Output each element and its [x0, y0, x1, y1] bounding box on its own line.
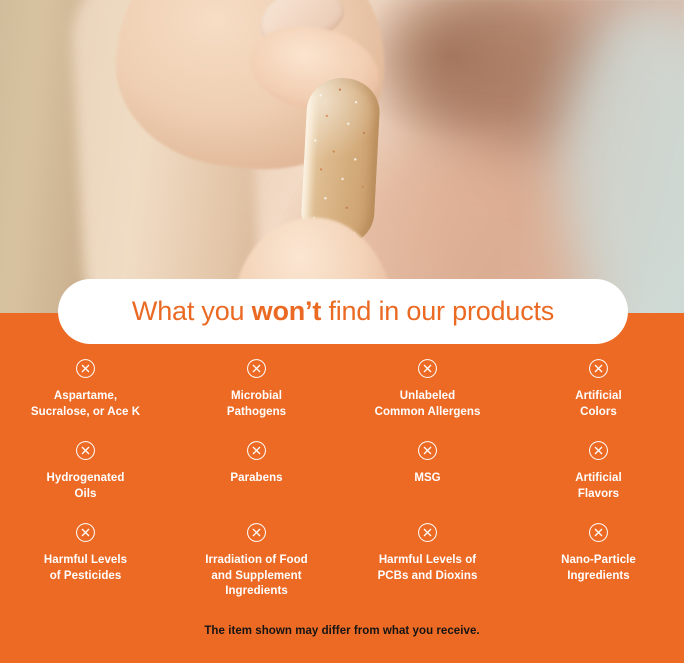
- exclusion-label: UnlabeledCommon Allergens: [375, 389, 481, 420]
- exclusion-label: MicrobialPathogens: [227, 389, 286, 420]
- exclusion-item: ArtificialFlavors: [513, 440, 684, 502]
- exclusions-grid: Aspartame,Sucralose, or Ace K MicrobialP…: [0, 358, 684, 600]
- exclusion-label: MSG: [414, 471, 440, 487]
- title-part-two: find in our products: [321, 296, 554, 326]
- exclusion-item: Harmful Levelsof Pesticides: [0, 522, 171, 600]
- x-circle-icon: [246, 522, 267, 543]
- hero-photo: [0, 0, 684, 314]
- exclusion-item: MSG: [342, 440, 513, 502]
- x-circle-icon: [588, 440, 609, 461]
- disclaimer-text: The item shown may differ from what you …: [0, 625, 684, 637]
- exclusion-label: Irradiation of Foodand SupplementIngredi…: [205, 553, 308, 600]
- page-title: What you won’t find in our products: [132, 296, 554, 327]
- x-circle-icon: [417, 522, 438, 543]
- x-circle-icon: [588, 358, 609, 379]
- exclusion-item: ArtificialColors: [513, 358, 684, 420]
- headline-pill: What you won’t find in our products: [58, 279, 628, 344]
- exclusion-label: Aspartame,Sucralose, or Ace K: [31, 389, 140, 420]
- title-emphasis: won’t: [252, 296, 321, 326]
- x-circle-icon: [75, 440, 96, 461]
- exclusion-label: ArtificialFlavors: [575, 471, 622, 502]
- exclusion-item: Irradiation of Foodand SupplementIngredi…: [171, 522, 342, 600]
- x-circle-icon: [417, 440, 438, 461]
- x-circle-icon: [75, 522, 96, 543]
- x-circle-icon: [246, 440, 267, 461]
- exclusion-item: Aspartame,Sucralose, or Ace K: [0, 358, 171, 420]
- exclusion-item: MicrobialPathogens: [171, 358, 342, 420]
- exclusion-item: Nano-ParticleIngredients: [513, 522, 684, 600]
- exclusion-item: Harmful Levels ofPCBs and Dioxins: [342, 522, 513, 600]
- product-exclusions-infographic: What you won’t find in our products Aspa…: [0, 0, 684, 663]
- x-circle-icon: [75, 358, 96, 379]
- exclusion-item: HydrogenatedOils: [0, 440, 171, 502]
- x-circle-icon: [246, 358, 267, 379]
- exclusion-item: UnlabeledCommon Allergens: [342, 358, 513, 420]
- title-part-one: What you: [132, 296, 252, 326]
- x-circle-icon: [588, 522, 609, 543]
- exclusion-item: Parabens: [171, 440, 342, 502]
- exclusion-label: Parabens: [230, 471, 282, 487]
- exclusion-label: Harmful Levels ofPCBs and Dioxins: [378, 553, 478, 584]
- exclusion-label: HydrogenatedOils: [47, 471, 125, 502]
- exclusion-label: Harmful Levelsof Pesticides: [44, 553, 127, 584]
- x-circle-icon: [417, 358, 438, 379]
- exclusion-label: Nano-ParticleIngredients: [561, 553, 636, 584]
- exclusion-label: ArtificialColors: [575, 389, 622, 420]
